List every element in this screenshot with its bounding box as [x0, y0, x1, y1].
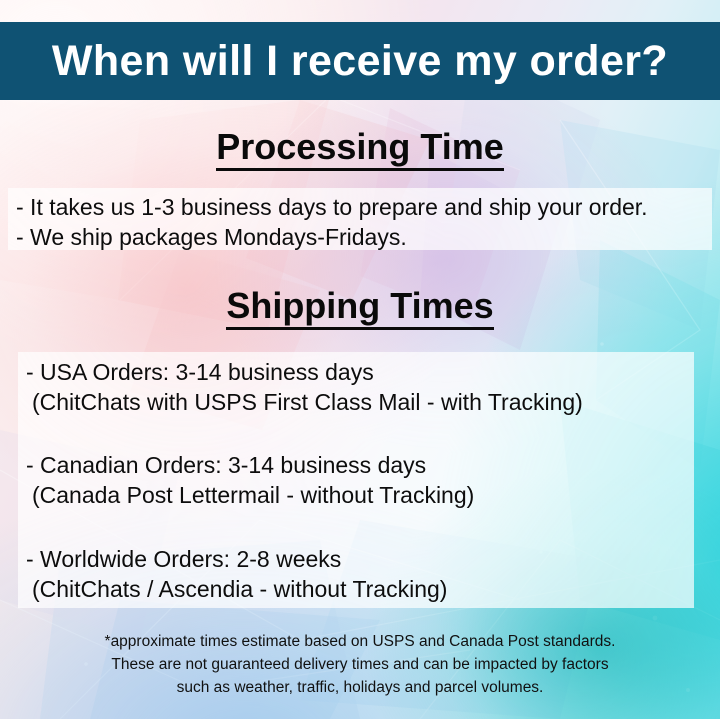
disclaimer-line-2: These are not guaranteed delivery times … [0, 653, 720, 676]
disclaimer-line-3: such as weather, traffic, holidays and p… [0, 676, 720, 699]
shipping-entry-canada-main: - Canadian Orders: 3-14 business days [26, 450, 474, 480]
processing-line-2: - We ship packages Mondays-Fridays. [16, 222, 407, 252]
header-banner: When will I receive my order? [0, 22, 720, 100]
section-heading-shipping-times-text: Shipping Times [226, 285, 493, 330]
disclaimer-line-1: *approximate times estimate based on USP… [0, 630, 720, 653]
poster-content: Processing Time - It takes us 1-3 busine… [0, 100, 720, 719]
shipping-entry-worldwide: - Worldwide Orders: 2-8 weeks (ChitChats… [26, 544, 447, 604]
shipping-entry-worldwide-carrier: (ChitChats / Ascendia - without Tracking… [26, 574, 447, 604]
processing-line-1: - It takes us 1-3 business days to prepa… [16, 192, 648, 222]
shipping-entry-usa-carrier: (ChitChats with USPS First Class Mail - … [26, 387, 583, 417]
shipping-entry-usa-main: - USA Orders: 3-14 business days [26, 357, 583, 387]
disclaimer-footnote: *approximate times estimate based on USP… [0, 630, 720, 699]
shipping-entry-usa: - USA Orders: 3-14 business days (ChitCh… [26, 357, 583, 417]
section-heading-shipping-times: Shipping Times [0, 286, 720, 326]
page-title: When will I receive my order? [52, 40, 668, 83]
section-heading-processing-time-text: Processing Time [216, 126, 503, 171]
shipping-entry-canada-carrier: (Canada Post Lettermail - without Tracki… [26, 480, 474, 510]
shipping-entry-canada: - Canadian Orders: 3-14 business days (C… [26, 450, 474, 510]
shipping-entry-worldwide-main: - Worldwide Orders: 2-8 weeks [26, 544, 447, 574]
faq-shipping-poster: When will I receive my order? Processing… [0, 0, 720, 719]
section-heading-processing-time: Processing Time [0, 127, 720, 167]
